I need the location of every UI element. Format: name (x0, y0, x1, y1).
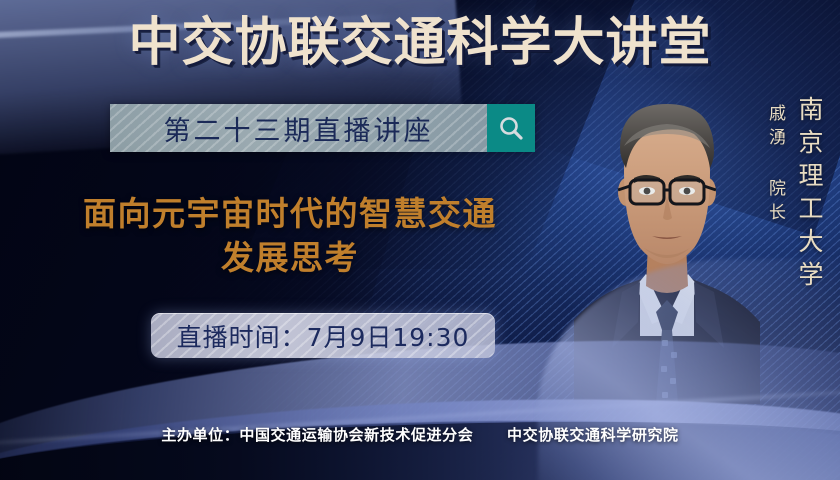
search-icon[interactable] (487, 104, 535, 152)
footer-organizers: 主办单位：中国交通运输协会新技术促进分会 中交协联交通科学研究院 (0, 424, 840, 445)
speaker-organization: 南京理工大学 (791, 96, 827, 294)
page-title: 中交协联交通科学大讲堂 (0, 16, 840, 71)
live-stream-poster: 中交协联交通科学大讲堂 第二十三期直播讲座 面向元宇宙时代的智慧交通 发展思考 … (0, 0, 840, 480)
headline-line-1: 面向元宇宙时代的智慧交通 (83, 194, 497, 233)
footer-institute: 中交协联交通科学研究院 (507, 426, 679, 444)
broadcast-time-label: 直播时间：7月9日19:30 (177, 318, 470, 354)
broadcast-time-badge: 直播时间：7月9日19:30 (151, 313, 495, 358)
episode-banner-body: 第二十三期直播讲座 (110, 104, 487, 152)
headline-line-2: 发展思考 (20, 236, 560, 280)
footer-host-label: 主办单位：中国交通运输协会新技术促进分会 (161, 426, 473, 444)
episode-label: 第二十三期直播讲座 (164, 109, 434, 148)
speaker-name-title: 戚湧 院长 (763, 104, 788, 227)
episode-banner: 第二十三期直播讲座 (110, 104, 535, 152)
lecture-headline: 面向元宇宙时代的智慧交通 发展思考 (20, 192, 560, 279)
